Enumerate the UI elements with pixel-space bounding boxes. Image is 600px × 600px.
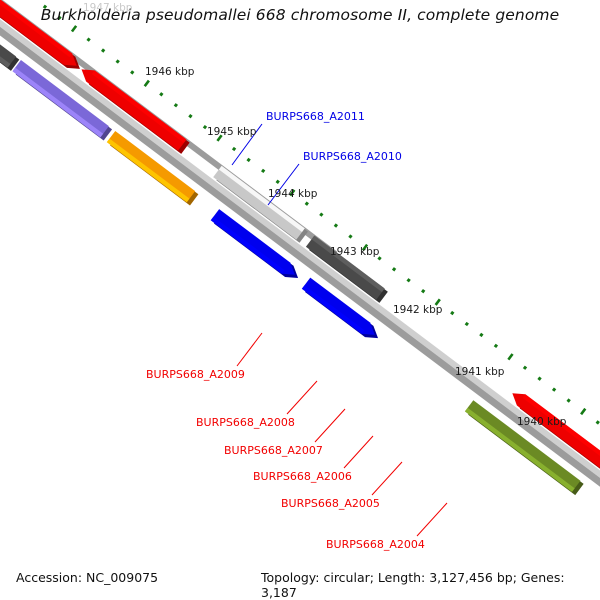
- leader-line: [372, 462, 402, 495]
- accession-text: Accession: NC_009075: [16, 570, 158, 585]
- leader-line: [344, 436, 373, 468]
- gene-label-burps668_a2008[interactable]: BURPS668_A2008: [196, 416, 295, 429]
- genome-stats-text: Topology: circular; Length: 3,127,456 bp…: [261, 570, 600, 600]
- genome-axis: [0, 0, 600, 600]
- genome-map-canvas: [0, 0, 600, 600]
- axis-tick-label: 1947 kbp: [83, 2, 132, 14]
- axis-tick-label: 1942 kbp: [393, 304, 442, 316]
- gene-label-burps668_a2004[interactable]: BURPS668_A2004: [326, 538, 425, 551]
- leader-line: [287, 381, 317, 414]
- gene-label-burps668_a2009[interactable]: BURPS668_A2009: [146, 368, 245, 381]
- gene-label-burps668_a2006[interactable]: BURPS668_A2006: [253, 470, 352, 483]
- gene-feature: [82, 69, 190, 154]
- gene-label-burps668_a2011[interactable]: BURPS668_A2011: [266, 110, 365, 123]
- gene-feature: [512, 393, 600, 471]
- axis-tick-label: 1946 kbp: [145, 66, 194, 78]
- axis-tick-label: 1941 kbp: [455, 366, 504, 378]
- axis-tick-label: 1943 kbp: [330, 246, 379, 258]
- gene-label-burps668_a2005[interactable]: BURPS668_A2005: [281, 497, 380, 510]
- axis-tick-label: 1945 kbp: [207, 126, 256, 138]
- gene-label-burps668_a2010[interactable]: BURPS668_A2010: [303, 150, 402, 163]
- axis-tick-label: 1944 kbp: [268, 188, 317, 200]
- leader-line: [237, 333, 262, 366]
- genome-map-viewer: Burkholderia pseudomallei 668 chromosome…: [0, 0, 600, 600]
- leader-line: [315, 409, 345, 442]
- axis-tick-label: 1940 kbp: [517, 416, 566, 428]
- leader-line: [417, 503, 447, 536]
- gene-label-burps668_a2007[interactable]: BURPS668_A2007: [224, 444, 323, 457]
